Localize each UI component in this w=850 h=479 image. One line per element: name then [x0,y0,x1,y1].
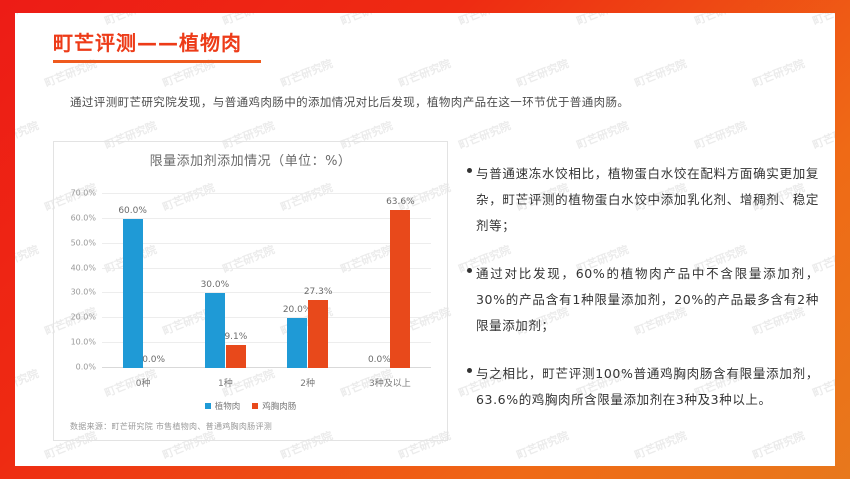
watermark-text: 町芒研究院 [632,55,689,90]
watermark-text: 町芒研究院 [456,13,513,29]
watermark-text: 町芒研究院 [692,117,749,152]
chart-legend-swatch [252,403,258,409]
chart-bar-value-label: 0.0% [142,355,165,365]
watermark-text: 町芒研究院 [15,117,41,152]
bullet-list: 与普通速冻水饺相比，植物蛋白水饺在配料方面确实更加复杂，町芒评测的植物蛋白水饺中… [467,161,819,435]
chart-bar[interactable]: 20.0% [287,318,307,368]
chart-x-tick-label: 3种及以上 [369,376,411,389]
chart-bar[interactable]: 60.0% [123,219,143,368]
bullet-item: 与普通速冻水饺相比，植物蛋白水饺在配料方面确实更加复杂，町芒评测的植物蛋白水饺中… [467,161,819,239]
watermark-text: 町芒研究院 [692,13,749,29]
bullet-text: 与之相比，町芒评测100%普通鸡胸肉肠含有限量添加剂，63.6%的鸡胸肉所含限量… [476,361,819,413]
title-underline [53,60,261,63]
chart-bar-value-label: 30.0% [201,280,230,290]
chart-legend-item[interactable]: 植物肉 [205,400,241,412]
watermark-text: 町芒研究院 [15,241,41,276]
chart-legend-swatch [205,403,211,409]
chart-y-tick-label: 60.0% [71,213,96,222]
bullet-item: 与之相比，町芒评测100%普通鸡胸肉肠含有限量添加剂，63.6%的鸡胸肉所含限量… [467,361,819,413]
chart-legend-label: 鸡胸肉肠 [262,400,296,412]
watermark-text: 町芒研究院 [810,117,835,152]
watermark-text: 町芒研究院 [15,365,41,400]
chart-bar-value-label: 63.6% [386,197,415,207]
chart-title: 限量添加剂添加情况（单位：%） [54,150,447,169]
chart-bar[interactable]: 63.6% [390,210,410,368]
chart-y-tick-label: 20.0% [71,313,96,322]
chart-legend-label: 植物肉 [215,400,241,412]
chart-bar-group: 30.0%9.1%1种 [184,194,266,368]
chart-card: 限量添加剂添加情况（单位：%） 0.0%10.0%20.0%30.0%40.0%… [53,141,448,441]
chart-bar-value-label: 27.3% [304,287,333,297]
chart-legend-item[interactable]: 鸡胸肉肠 [252,400,296,412]
watermark-text: 町芒研究院 [750,55,807,90]
header: 町芒评测——植物肉 [53,27,261,63]
watermark-text: 町芒研究院 [514,55,571,90]
chart-bar-group: 0.0%63.6%3种及以上 [349,194,431,368]
chart-plot-area: 0.0%10.0%20.0%30.0%40.0%50.0%60.0%70.0% … [102,194,431,368]
watermark-text: 町芒研究院 [574,117,631,152]
watermark-text: 町芒研究院 [456,117,513,152]
page-title: 町芒评测——植物肉 [53,27,261,56]
watermark-text: 町芒研究院 [338,13,395,29]
chart-y-tick-label: 50.0% [71,238,96,247]
chart-y-tick-label: 70.0% [71,189,96,198]
bullet-text: 通过对比发现，60%的植物肉产品中不含限量添加剂，30%的产品含有1种限量添加剂… [476,261,819,339]
chart-plot: 0.0%10.0%20.0%30.0%40.0%50.0%60.0%70.0% … [54,182,449,400]
chart-x-tick-label: 2种 [300,376,315,389]
watermark-text: 町芒研究院 [574,13,631,29]
bullet-dot-icon [467,168,472,173]
chart-bar-value-label: 0.0% [368,355,391,365]
slide-page: 町芒研究院町芒研究院町芒研究院町芒研究院町芒研究院町芒研究院町芒研究院町芒研究院… [15,13,835,466]
chart-bar-groups: 60.0%0.0%0种30.0%9.1%1种20.0%27.3%2种0.0%63… [102,194,431,368]
chart-y-tick-label: 30.0% [71,288,96,297]
chart-bar-value-label: 20.0% [283,305,312,315]
source-note: 数据来源：町芒研究院 市售植物肉、普通鸡胸肉肠评测 [70,421,272,432]
watermark-text: 町芒研究院 [810,13,835,29]
chart-bar-value-label: 60.0% [118,206,147,216]
chart-bar-group: 60.0%0.0%0种 [102,194,184,368]
slide-frame: 町芒研究院町芒研究院町芒研究院町芒研究院町芒研究院町芒研究院町芒研究院町芒研究院… [0,0,850,479]
chart-x-tick-label: 1种 [218,376,233,389]
chart-legend: 植物肉鸡胸肉肠 [54,400,447,412]
chart-x-tick-label: 0种 [136,376,151,389]
chart-bar-value-label: 9.1% [224,332,247,342]
chart-y-tick-label: 0.0% [76,363,96,372]
subtitle-text: 通过评测町芒研究院发现，与普通鸡肉肠中的添加情况对比后发现，植物肉产品在这一环节… [70,93,810,111]
chart-y-tick-label: 10.0% [71,338,96,347]
chart-bar[interactable]: 9.1% [226,345,246,368]
bullet-text: 与普通速冻水饺相比，植物蛋白水饺在配料方面确实更加复杂，町芒评测的植物蛋白水饺中… [476,161,819,239]
watermark-text: 町芒研究院 [396,55,453,90]
watermark-text: 町芒研究院 [278,55,335,90]
watermark-text: 町芒研究院 [15,13,41,29]
bullet-item: 通过对比发现，60%的植物肉产品中不含限量添加剂，30%的产品含有1种限量添加剂… [467,261,819,339]
chart-bar[interactable]: 30.0% [205,293,225,368]
chart-bar[interactable]: 27.3% [308,300,328,368]
chart-bar-group: 20.0%27.3%2种 [267,194,349,368]
chart-y-tick-label: 40.0% [71,263,96,272]
bullet-dot-icon [467,368,472,373]
bullet-dot-icon [467,268,472,273]
